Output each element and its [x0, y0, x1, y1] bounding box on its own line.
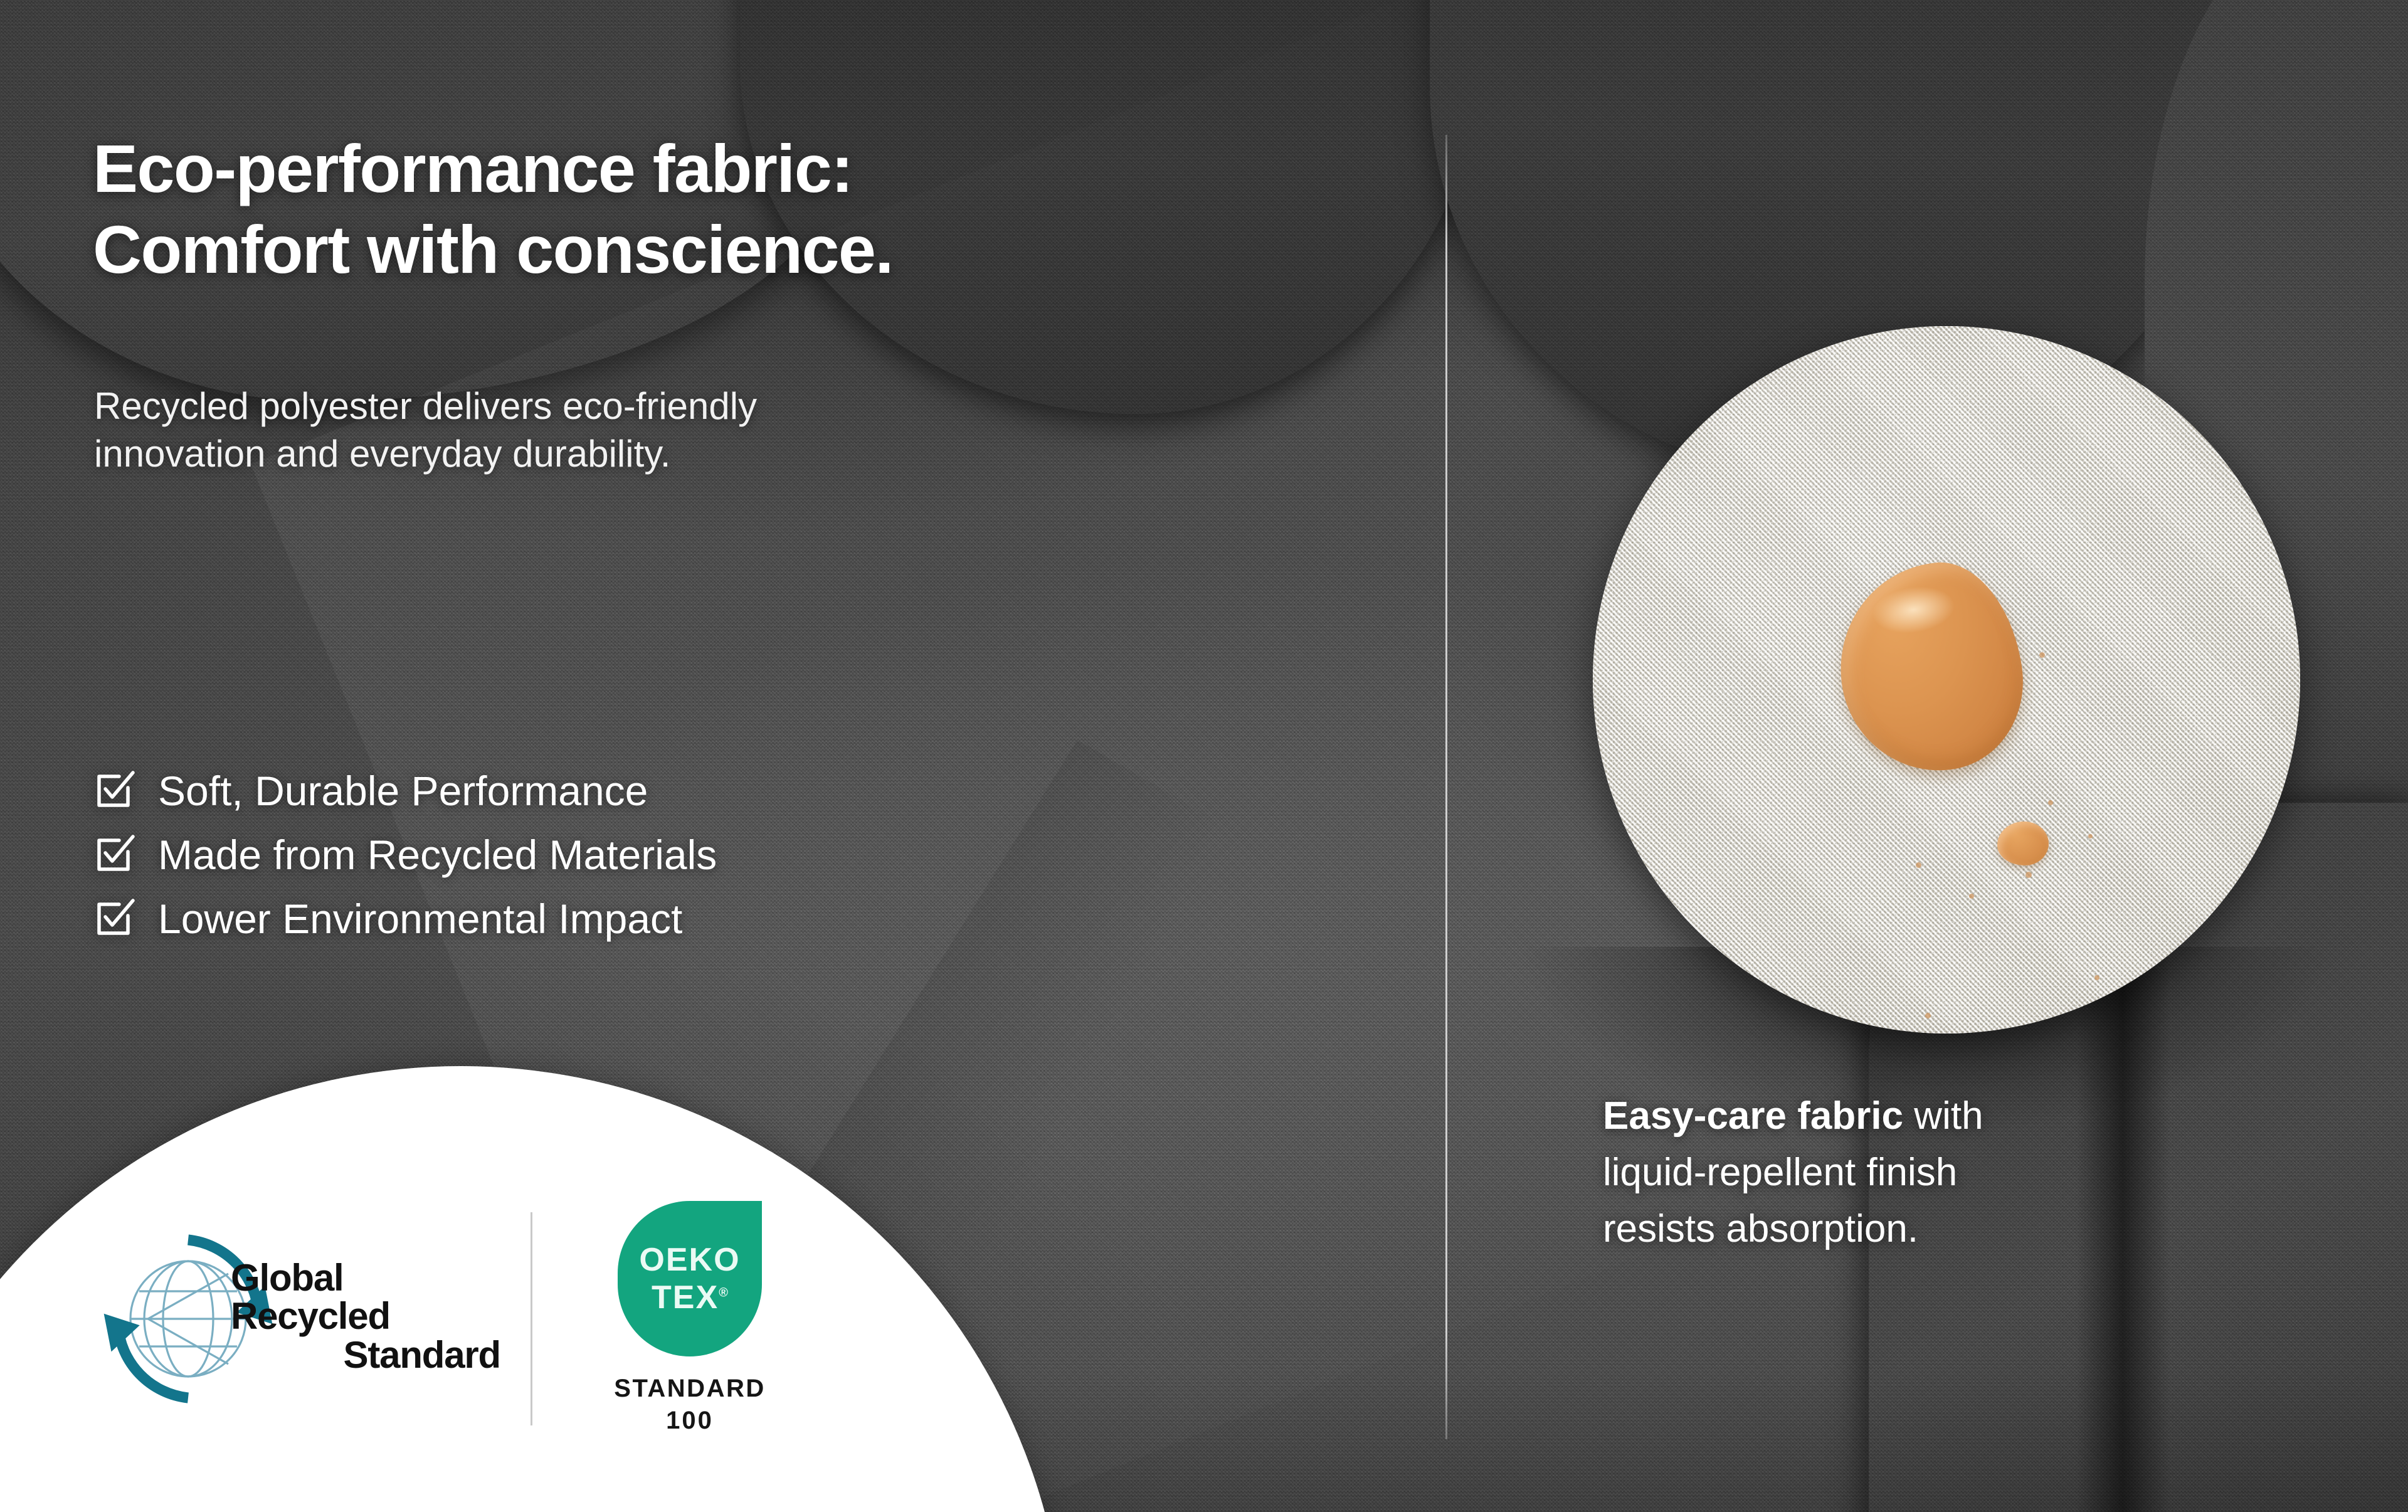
oeko-standard-label: STANDARD: [614, 1375, 765, 1402]
oeko-tex-standard-caption: STANDARD 100: [614, 1373, 765, 1437]
caption-bold-phrase: Easy-care fabric: [1603, 1094, 1903, 1138]
list-item: Lower Environmental Impact: [94, 898, 1348, 939]
caption-line-1: Easy-care fabric with: [1603, 1088, 2387, 1145]
swatch-caption: Easy-care fabric with liquid-repellent f…: [1603, 1088, 2387, 1257]
oeko-standard-number: 100: [614, 1405, 765, 1437]
subtitle-line-2: innovation and everyday durability.: [94, 430, 1191, 478]
list-item: Made from Recycled Materials: [94, 834, 1348, 875]
certification-logos: Global Recycled Standard OEKO TEX® STAND…: [94, 1201, 793, 1437]
headline-line-1: Eco-performance fabric:: [93, 130, 853, 206]
checkbox-check-icon: [94, 771, 133, 810]
list-item-label: Soft, Durable Performance: [158, 770, 648, 812]
marketing-banner: Eco-performance fabric: Comfort with con…: [0, 0, 2408, 1512]
grs-line-1: Global Recycled: [231, 1259, 500, 1335]
grs-wordmark: Global Recycled Standard: [231, 1259, 500, 1374]
liquid-droplet-small: [1997, 822, 2049, 865]
droplet-speck: [1916, 862, 1921, 868]
caption-line-3: resists absorption.: [1603, 1201, 2387, 1257]
list-item-label: Made from Recycled Materials: [158, 834, 717, 875]
droplet-speck: [2088, 834, 2093, 838]
checkbox-check-icon: [94, 835, 133, 874]
oeko-mark-line-1: OEKO: [639, 1244, 740, 1276]
page-title: Eco-performance fabric: Comfort with con…: [93, 129, 1366, 290]
headline-line-2: Comfort with conscience.: [93, 209, 1366, 290]
oeko-tex-droplet-mark: OEKO TEX®: [618, 1201, 762, 1356]
droplet-speck: [2025, 872, 2032, 878]
oeko-tex-logo: OEKO TEX® STANDARD 100: [586, 1201, 793, 1437]
grs-line-2: Standard: [231, 1336, 500, 1374]
liquid-repellent-fabric-swatch: [1593, 326, 2300, 1034]
registered-trademark-icon: ®: [719, 1286, 728, 1300]
caption-line-1-rest: with: [1903, 1094, 1983, 1138]
droplet-speck: [2048, 800, 2053, 805]
global-recycled-standard-logo: Global Recycled Standard: [94, 1225, 508, 1413]
vertical-divider: [1445, 135, 1447, 1439]
list-item: Soft, Durable Performance: [94, 770, 1348, 812]
certification-separator: [531, 1212, 532, 1425]
checkbox-check-icon: [94, 899, 133, 938]
subtitle: Recycled polyester delivers eco-friendly…: [94, 383, 1191, 477]
list-item-label: Lower Environmental Impact: [158, 898, 682, 939]
subtitle-line-1: Recycled polyester delivers eco-friendly: [94, 385, 757, 427]
feature-checklist: Soft, Durable Performance Made from Recy…: [94, 770, 1348, 962]
droplet-speck: [2039, 652, 2045, 658]
droplet-speck: [2094, 975, 2099, 980]
caption-line-2: liquid-repellent finish: [1603, 1145, 2387, 1201]
droplet-speck: [1925, 1013, 1931, 1018]
oeko-mark-line-2: TEX®: [652, 1281, 728, 1314]
droplet-speck: [1969, 894, 1974, 899]
